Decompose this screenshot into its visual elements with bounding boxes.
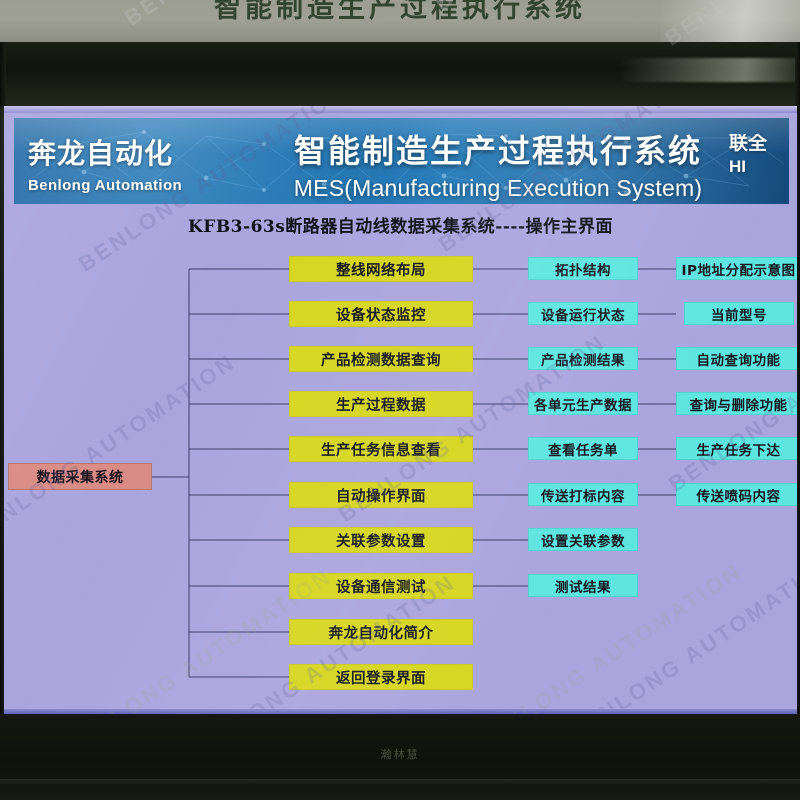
node-menu-5[interactable]: 生产任务信息查看	[289, 436, 473, 462]
node-detail-2[interactable]: 当前型号	[684, 302, 794, 325]
node-menu-4[interactable]: 生产过程数据	[289, 391, 473, 417]
node-menu-6[interactable]: 自动操作界面	[289, 482, 473, 508]
node-sub-3[interactable]: 产品检测结果	[528, 347, 638, 370]
node-menu-1[interactable]: 整线网络布局	[289, 256, 473, 282]
node-root[interactable]: 数据采集系统	[8, 463, 152, 490]
node-sub-2[interactable]: 设备运行状态	[528, 302, 638, 325]
node-detail-1[interactable]: IP地址分配示意图	[676, 257, 797, 280]
node-sub-1[interactable]: 拓扑结构	[528, 257, 638, 280]
node-menu-8[interactable]: 设备通信测试	[289, 573, 473, 599]
monitor-bezel-top	[0, 42, 800, 110]
monitor-brand-logo: 瀚林慧	[0, 746, 800, 762]
node-sub-7[interactable]: 设置关联参数	[528, 528, 638, 551]
node-menu-9[interactable]: 奔龙自动化简介	[289, 619, 473, 645]
node-menu-10[interactable]: 返回登录界面	[289, 664, 473, 690]
photo-of-monitor: 智能制造生产过程执行系统	[0, 0, 800, 800]
screen-content: 奔龙自动化 Benlong Automation 智能制造生产过程执行系统 ME…	[4, 106, 797, 718]
monitor-stand-strip	[0, 779, 800, 784]
node-detail-4[interactable]: 查询与删除功能	[676, 392, 797, 415]
node-menu-2[interactable]: 设备状态监控	[289, 301, 473, 327]
node-menu-7[interactable]: 关联参数设置	[289, 527, 473, 553]
node-menu-3[interactable]: 产品检测数据查询	[289, 346, 473, 372]
wall-behind-monitor: 智能制造生产过程执行系统	[0, 0, 800, 42]
node-detail-5[interactable]: 生产任务下达	[676, 437, 797, 460]
node-sub-5[interactable]: 查看任务单	[528, 437, 638, 460]
wall-reflection	[660, 0, 800, 42]
node-sub-4[interactable]: 各单元生产数据	[528, 392, 638, 415]
menu-tree-diagram: 数据采集系统 整线网络布局 设备状态监控 产品检测数据查询 生产过程数据 生产任…	[4, 106, 797, 718]
node-detail-3[interactable]: 自动查询功能	[676, 347, 797, 370]
node-detail-6[interactable]: 传送喷码内容	[676, 483, 797, 506]
monitor-bezel-bottom: 瀚林慧	[0, 714, 800, 800]
node-sub-8[interactable]: 测试结果	[528, 574, 638, 597]
node-sub-6[interactable]: 传送打标内容	[528, 483, 638, 506]
